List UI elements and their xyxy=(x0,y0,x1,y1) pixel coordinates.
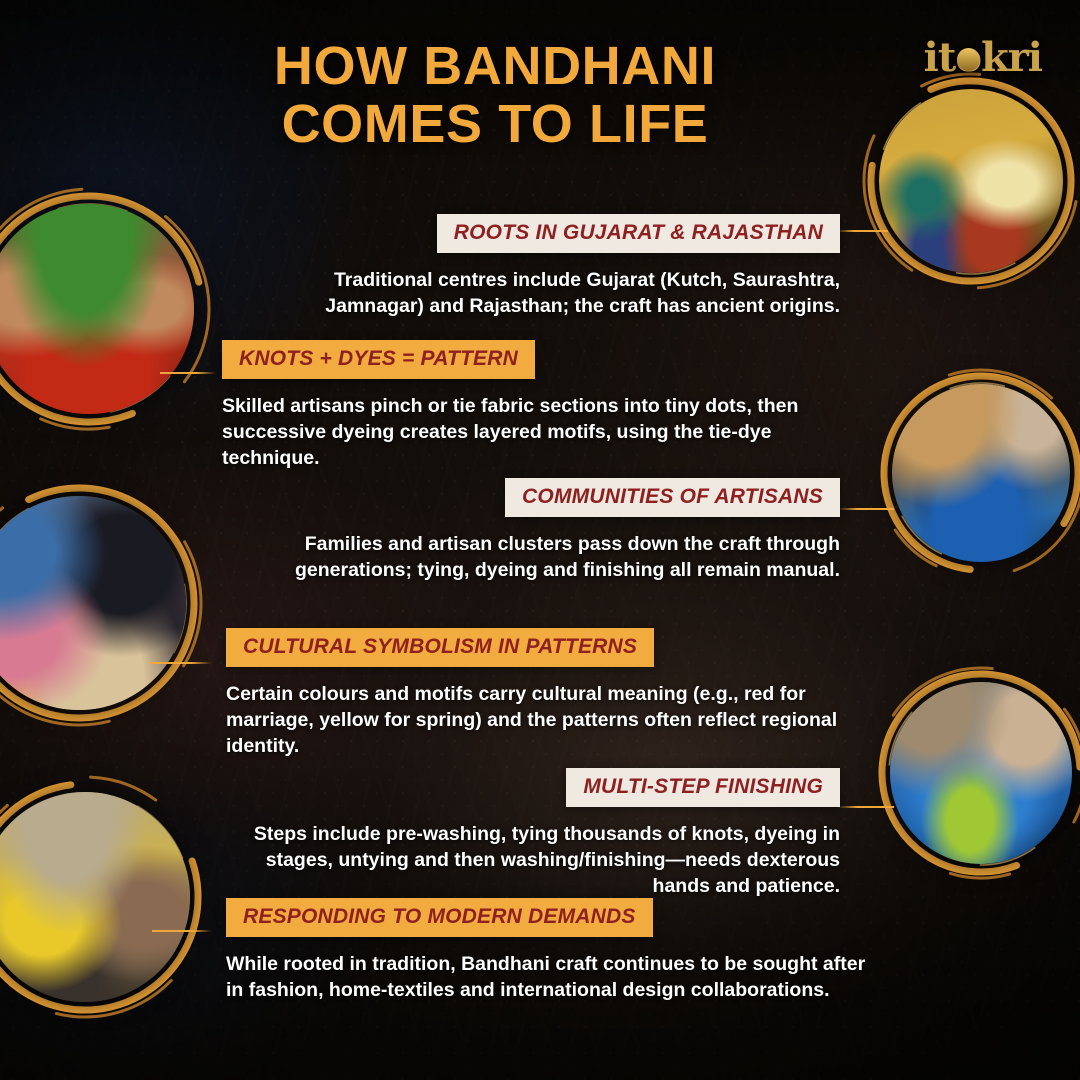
infographic-canvas: itokri HOW BANDHANI COMES TO LIFE ROOTS … xyxy=(0,0,1080,1080)
connector-knots xyxy=(160,372,216,374)
title-line-1: HOW BANDHANI xyxy=(70,38,920,96)
photo-women-untying xyxy=(0,496,186,710)
section-body-modern: While rooted in tradition, Bandhani craf… xyxy=(226,952,866,1004)
connector-finishing xyxy=(838,806,894,808)
section-label-knots[interactable]: KNOTS + DYES = PATTERN xyxy=(222,340,535,379)
section-label-communities[interactable]: COMMUNITIES OF ARTISANS xyxy=(505,478,840,517)
section-body-finishing: Steps include pre-washing, tying thousan… xyxy=(240,822,840,900)
section-modern: RESPONDING TO MODERN DEMANDS While roote… xyxy=(226,898,866,1004)
section-symbolism: CULTURAL SYMBOLISM IN PATTERNS Certain c… xyxy=(226,628,866,760)
brand-logo-part1: it xyxy=(924,34,956,81)
connector-symbolism xyxy=(150,662,212,664)
section-body-symbolism: Certain colours and motifs carry cultura… xyxy=(226,682,866,760)
section-label-finishing[interactable]: MULTI-STEP FINISHING xyxy=(566,768,840,807)
section-label-roots[interactable]: ROOTS IN GUJARAT & RAJASTHAN xyxy=(437,214,840,253)
section-body-knots: Skilled artisans pinch or tie fabric sec… xyxy=(222,394,862,472)
brand-logo[interactable]: itokri xyxy=(924,38,1042,78)
connector-modern xyxy=(152,930,212,932)
section-communities: COMMUNITIES OF ARTISANS Families and art… xyxy=(240,478,840,584)
connector-communities xyxy=(838,508,894,510)
section-body-communities: Families and artisan clusters pass down … xyxy=(240,532,840,584)
title-line-2: COMES TO LIFE xyxy=(70,96,920,154)
section-knots: KNOTS + DYES = PATTERN Skilled artisans … xyxy=(222,340,862,472)
photo-yellow-fabric-dyeing xyxy=(0,792,190,1002)
section-finishing: MULTI-STEP FINISHING Steps include pre-w… xyxy=(240,768,840,900)
connector-roots xyxy=(836,230,888,232)
page-title: HOW BANDHANI COMES TO LIFE xyxy=(0,38,1080,154)
section-label-modern[interactable]: RESPONDING TO MODERN DEMANDS xyxy=(226,898,653,937)
brand-logo-circle-o: o xyxy=(955,38,981,78)
photo-indigo-vat xyxy=(890,682,1072,864)
photo-dyer-blue-vat xyxy=(892,384,1070,562)
brand-logo-part3: kri xyxy=(981,34,1042,81)
section-label-symbolism[interactable]: CULTURAL SYMBOLISM IN PATTERNS xyxy=(226,628,654,667)
photo-hands-red-fabric xyxy=(0,204,194,414)
section-body-roots: Traditional centres include Gujarat (Kut… xyxy=(240,268,840,320)
section-roots: ROOTS IN GUJARAT & RAJASTHAN Traditional… xyxy=(240,214,840,320)
